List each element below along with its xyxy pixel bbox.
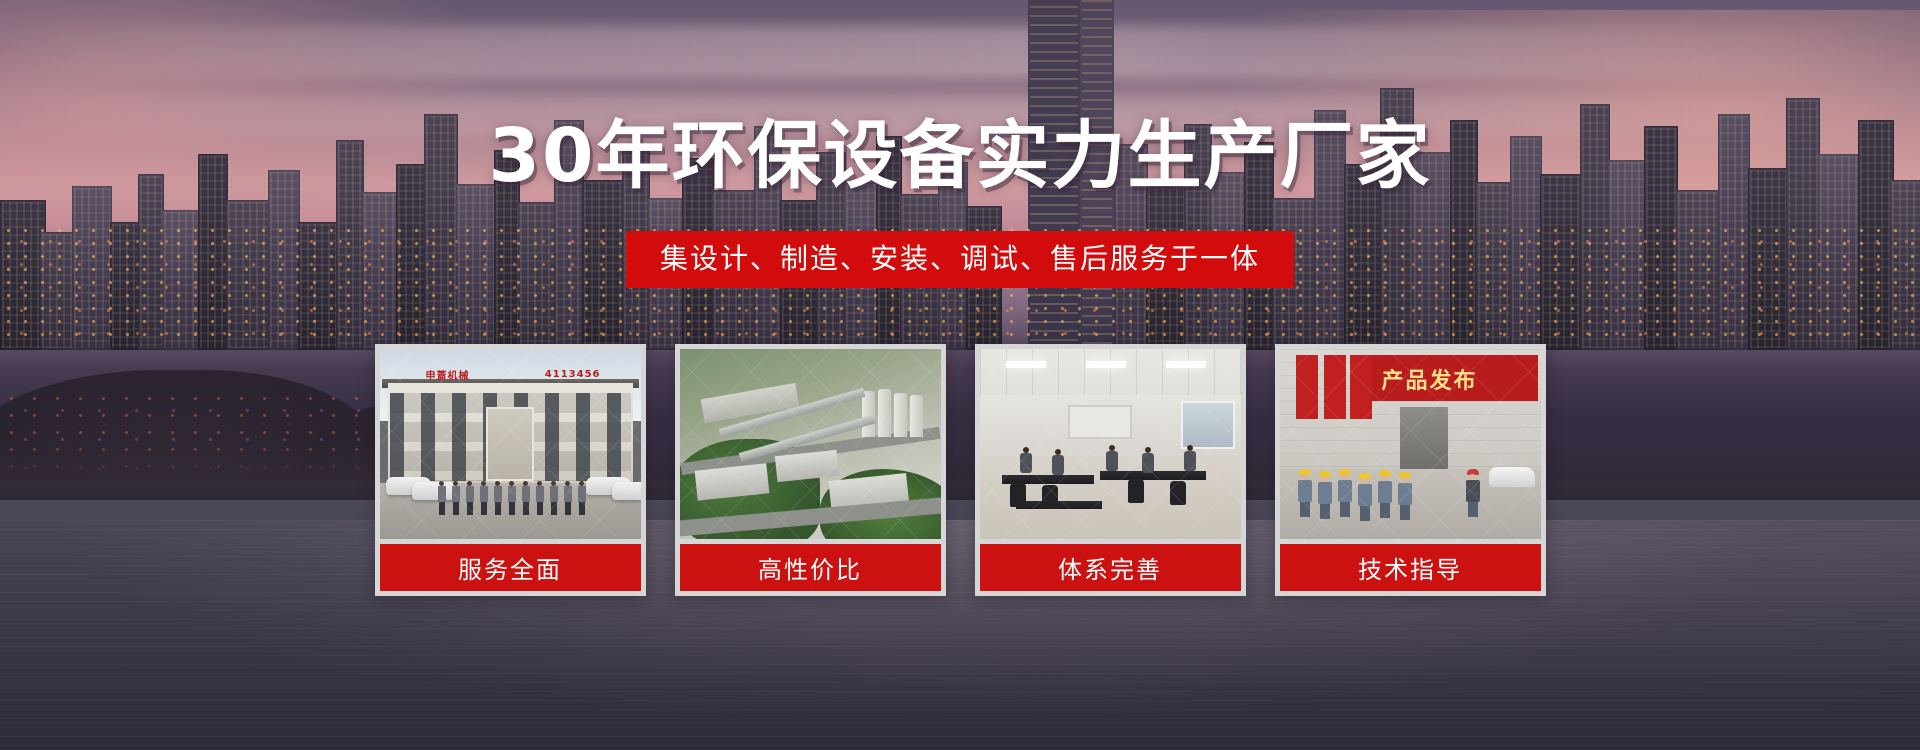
card-caption: 高性价比	[680, 544, 941, 591]
hero-banner: 30年环保设备实力生产厂家 集设计、制造、安装、调试、售后服务于一体 申蓋机械 …	[0, 0, 1920, 750]
workshop-banner-text: 产品发布	[1382, 363, 1478, 395]
banner-subtitle: 集设计、制造、安装、调试、售后服务于一体	[626, 231, 1294, 288]
card-caption: 技术指导	[1280, 544, 1541, 591]
card-photo-workshop: 产品发布	[1280, 349, 1541, 539]
banner-subtitle-wrapper: 集设计、制造、安装、调试、售后服务于一体	[0, 231, 1920, 288]
banner-headline: 30年环保设备实力生产厂家	[0, 119, 1920, 193]
feature-card[interactable]: 体系完善	[975, 344, 1246, 596]
card-caption: 体系完善	[980, 544, 1241, 591]
card-caption: 服务全面	[380, 544, 641, 591]
building-brand-text: 申蓋机械	[426, 367, 470, 382]
feature-card[interactable]: 申蓋机械 4113456	[375, 344, 646, 596]
feature-card[interactable]: 高性价比	[675, 344, 946, 596]
card-photo-aerial-plant	[680, 349, 941, 539]
building-phone-text: 4113456	[545, 369, 601, 380]
building-signage: 申蓋机械 4113456	[426, 367, 601, 381]
workshop-banner: 产品发布	[1372, 355, 1538, 401]
feature-card[interactable]: 产品发布 技术指导	[1275, 344, 1546, 596]
card-photo-office-building: 申蓋机械 4113456	[380, 349, 641, 539]
card-photo-office-interior	[980, 349, 1241, 539]
feature-card-list: 申蓋机械 4113456	[0, 344, 1920, 596]
banner-content: 30年环保设备实力生产厂家 集设计、制造、安装、调试、售后服务于一体 申蓋机械 …	[0, 0, 1920, 750]
